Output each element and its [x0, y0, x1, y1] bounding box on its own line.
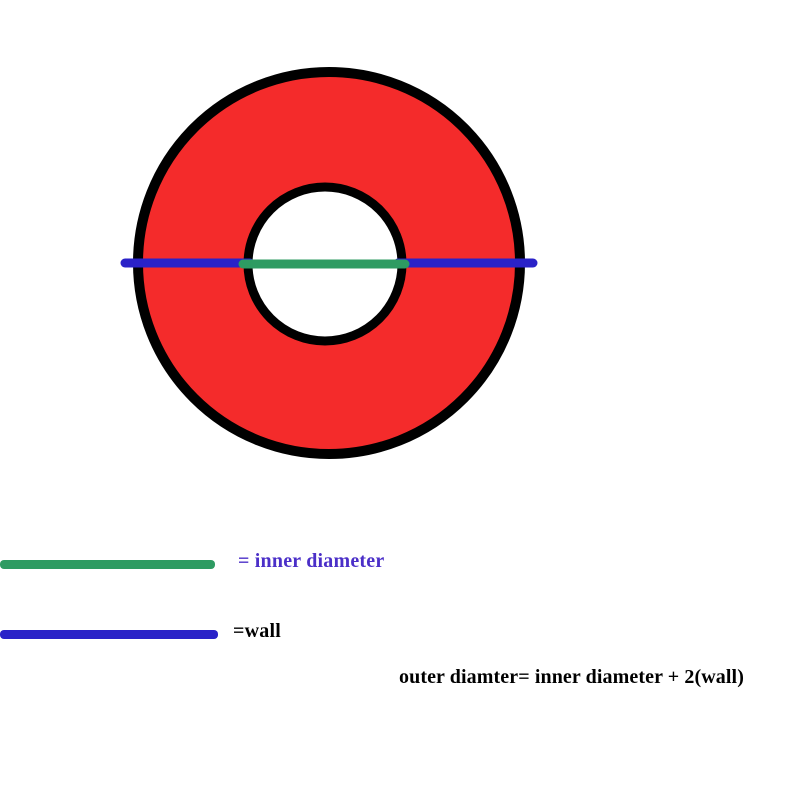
legend-item-inner-diameter: = inner diameter: [0, 548, 800, 588]
annulus-diagram: [0, 0, 800, 520]
legend-label-inner-diameter: = inner diameter: [238, 550, 384, 573]
formula-text: outer diamter= inner diameter + 2(wall): [399, 666, 744, 689]
legend-item-wall: =wall: [0, 618, 800, 658]
legend-swatch-inner-diameter-icon: [0, 560, 215, 569]
legend-swatch-wall-icon: [0, 630, 218, 639]
diagram-canvas: = inner diameter =wall outer diamter= in…: [0, 0, 800, 800]
legend-label-wall: =wall: [233, 620, 281, 643]
